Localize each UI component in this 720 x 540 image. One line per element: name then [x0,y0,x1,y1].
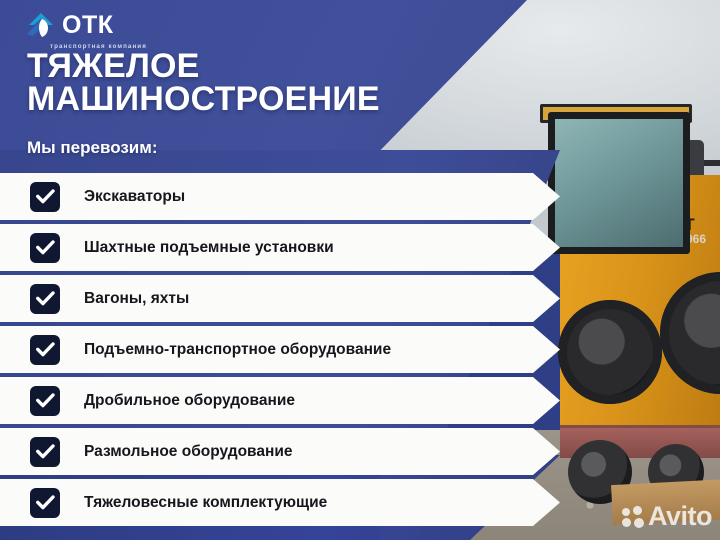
check-icon [30,233,60,263]
list-item-bar: Шахтные подъемные установки [0,224,560,271]
list-item-label: Дробильное оборудование [84,392,295,410]
check-icon [30,284,60,314]
page-title: ТЯЖЕЛОЕ МАШИНОСТРОЕНИЕ [27,50,380,117]
list-item[interactable]: Вагоны, яхты [0,275,720,322]
avito-wordmark: Avito [648,503,712,530]
check-icon [30,182,60,212]
list-item[interactable]: Экскаваторы [0,173,720,220]
list-item[interactable]: Тяжеловесные комплектующие [0,479,720,526]
subheading: Мы перевозим: [27,138,158,158]
list-item-label: Подъемно-транспортное оборудование [84,341,391,359]
list-item-label: Тяжеловесные комплектующие [84,494,327,512]
list-item-bar: Экскаваторы [0,173,560,220]
list-item-bar: Вагоны, яхты [0,275,560,322]
avito-dots-icon [622,506,644,528]
list-item-bar: Подъемно-транспортное оборудование [0,326,560,373]
list-item[interactable]: Шахтные подъемные установки [0,224,720,271]
check-icon [30,437,60,467]
list-item[interactable]: Подъемно-транспортное оборудование [0,326,720,373]
list-item-bar: Дробильное оборудование [0,377,560,424]
check-icon [30,488,60,518]
otk-arrow-leaf-icon [26,10,60,40]
check-icon [30,386,60,416]
list-item-label: Шахтные подъемные установки [84,239,334,257]
list-item-bar: Тяжеловесные комплектующие [0,479,560,526]
promo-banner: CAT 966 ОТК транспортная компания ТЯЖЕЛО… [0,0,720,540]
list-item[interactable]: Размольное оборудование [0,428,720,475]
list-item-label: Экскаваторы [84,188,185,206]
list-item-bar: Размольное оборудование [0,428,560,475]
services-checklist: Экскаваторы Шахтные подъемные установки … [0,173,720,530]
check-icon [30,335,60,365]
list-item-label: Вагоны, яхты [84,290,189,308]
list-item[interactable]: Дробильное оборудование [0,377,720,424]
company-logo[interactable]: ОТК транспортная компания [26,10,113,40]
list-item-label: Размольное оборудование [84,443,293,461]
logo-wordmark: ОТК [62,10,113,40]
avito-watermark: Avito [622,503,712,530]
